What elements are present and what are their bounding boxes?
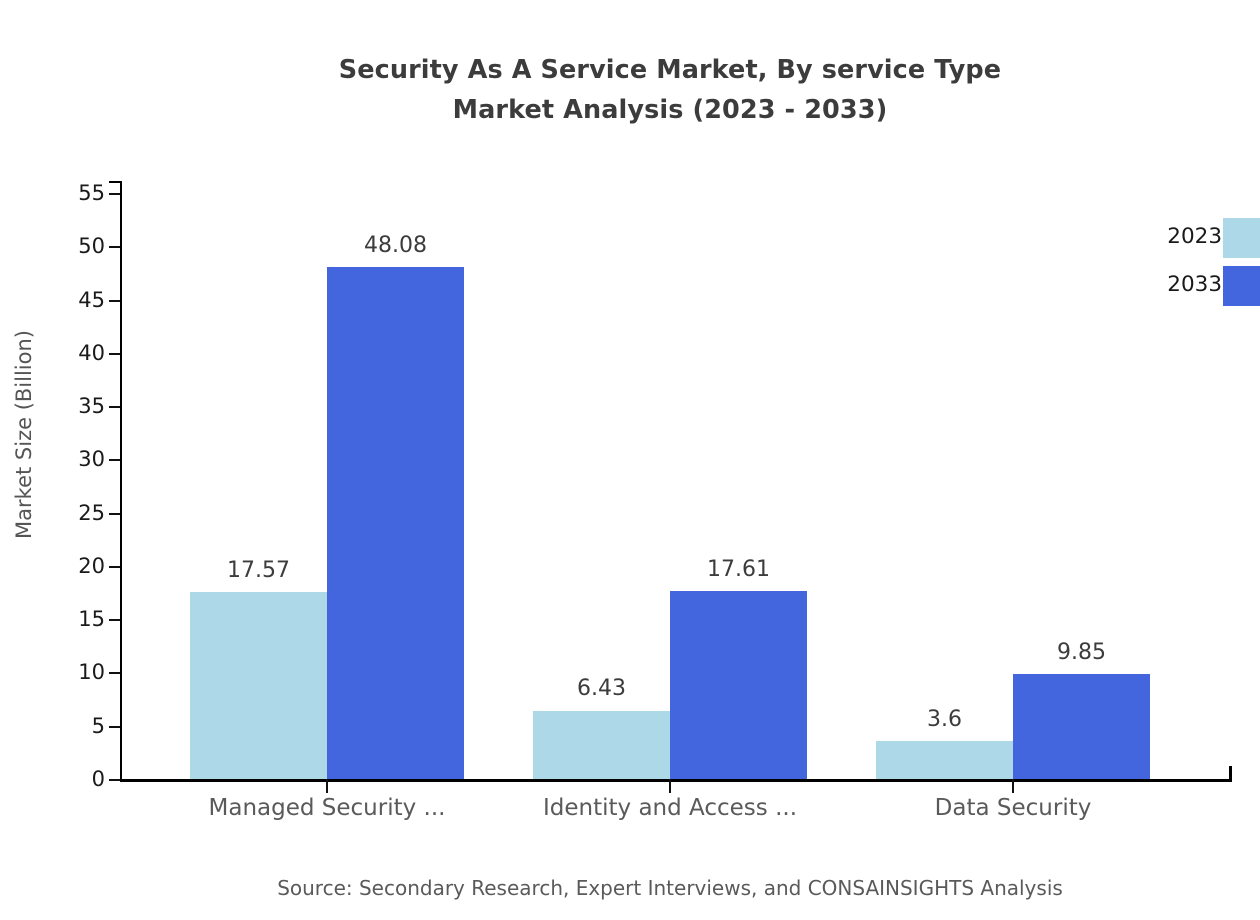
bar-value-label: 48.08 xyxy=(297,233,494,258)
source-caption: Source: Secondary Research, Expert Inter… xyxy=(0,876,1260,900)
bar-2023-3[interactable] xyxy=(876,741,1013,779)
x-axis-tick xyxy=(1012,779,1015,793)
legend-item-2033[interactable]: 2033 xyxy=(1135,266,1260,314)
y-axis-tick-label: 5 xyxy=(35,714,105,738)
y-axis-tick xyxy=(109,406,120,408)
y-axis-tick-label: 35 xyxy=(35,394,105,418)
y-axis-tick-label: 45 xyxy=(35,288,105,312)
y-axis-tick xyxy=(109,779,120,781)
bar-2023-1[interactable] xyxy=(190,592,327,779)
x-axis-category-label[interactable]: Identity and Access ... xyxy=(490,795,850,821)
y-axis-tick-label: 10 xyxy=(35,660,105,684)
y-axis-tick xyxy=(109,246,120,248)
legend-swatch xyxy=(1223,266,1260,306)
y-axis-tick xyxy=(109,672,120,674)
y-axis-tick-label: 30 xyxy=(35,447,105,471)
y-axis-tick xyxy=(109,459,120,461)
y-axis-tick xyxy=(109,726,120,728)
x-axis-end-cap xyxy=(1229,766,1232,781)
y-axis-top-cap xyxy=(109,181,122,183)
chart-legend: 20232033 xyxy=(1135,218,1260,314)
x-axis-line xyxy=(120,779,1232,782)
bar-2033-2[interactable] xyxy=(670,591,807,779)
chart-figure: Security As A Service Market, By service… xyxy=(0,0,1260,920)
x-axis-tick xyxy=(326,779,329,793)
y-axis-tick-label: 0 xyxy=(35,767,105,791)
x-axis-category-label[interactable]: Managed Security ... xyxy=(147,795,507,821)
y-axis-tick xyxy=(109,619,120,621)
bar-value-label: 9.85 xyxy=(983,640,1180,665)
bar-2033-1[interactable] xyxy=(327,267,464,779)
legend-label: 2023 xyxy=(1167,224,1222,249)
y-axis-tick-label: 40 xyxy=(35,341,105,365)
chart-title-line-2: Market Analysis (2023 - 2033) xyxy=(0,90,1260,130)
legend-label: 2033 xyxy=(1167,272,1222,297)
y-axis-tick xyxy=(109,193,120,195)
y-axis-tick xyxy=(109,513,120,515)
x-axis-category-label[interactable]: Data Security xyxy=(833,795,1193,821)
y-axis-tick xyxy=(109,566,120,568)
y-axis-tick-label: 55 xyxy=(35,181,105,205)
y-axis-tick-label: 15 xyxy=(35,607,105,631)
bar-2033-3[interactable] xyxy=(1013,674,1150,779)
y-axis-tick xyxy=(109,300,120,302)
y-axis-tick-label: 25 xyxy=(35,501,105,525)
x-axis-tick xyxy=(669,779,672,793)
y-axis-line xyxy=(120,181,122,781)
chart-title-block: Security As A Service Market, By service… xyxy=(0,50,1260,130)
legend-swatch xyxy=(1223,218,1260,258)
y-axis-tick xyxy=(109,353,120,355)
bar-2023-2[interactable] xyxy=(533,711,670,780)
chart-title-line-1: Security As A Service Market, By service… xyxy=(0,50,1260,90)
plot-area: 0510152025303540455055 17.5748.086.4317.… xyxy=(120,181,1232,781)
legend-item-2023[interactable]: 2023 xyxy=(1135,218,1260,266)
y-axis-tick-label: 50 xyxy=(35,234,105,258)
y-axis-tick-label: 20 xyxy=(35,554,105,578)
y-axis-title: Market Size (Billion) xyxy=(12,330,36,539)
bar-value-label: 17.61 xyxy=(640,557,837,582)
